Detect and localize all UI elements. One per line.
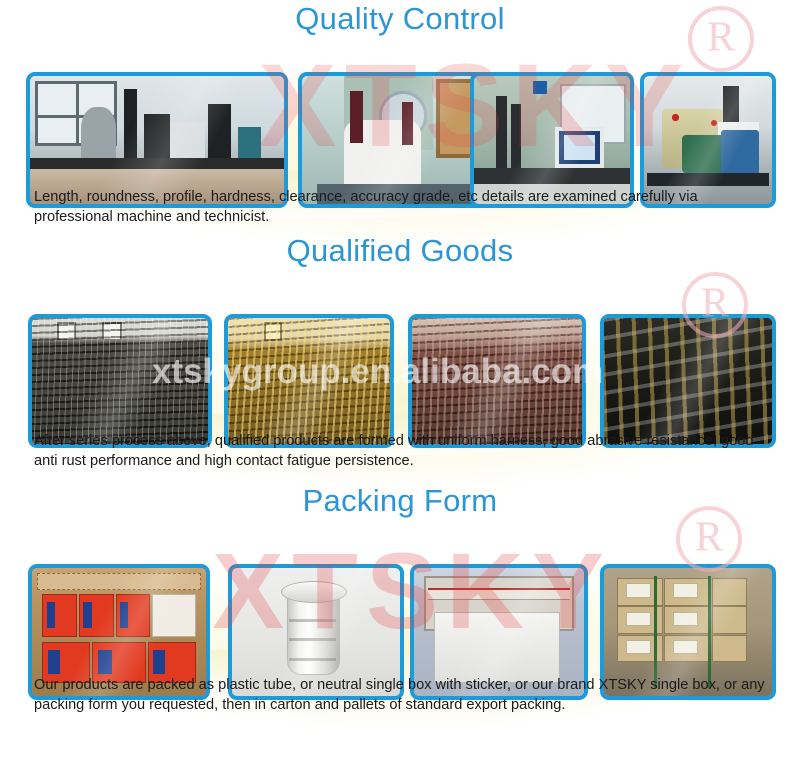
caption-qualified-goods: After series process above, qualified pr… [34,432,774,472]
photo-glare [604,318,772,444]
photo-glare [30,76,284,204]
section-title-packing-form: Packing Form [0,482,800,516]
photo-content [30,76,284,204]
photo-content [474,76,630,204]
section-title-quality-control: Quality Control [0,0,800,34]
caption-packing-form: Our products are packed as plastic tube,… [34,676,774,716]
photo-content [604,318,772,444]
photo-glare [228,318,390,444]
photo-content [302,76,494,204]
scene-hardness-tester [302,76,494,204]
photo-glare [474,76,630,204]
photo-stacked-steel-rollers-workshop[interactable] [28,314,212,448]
scene-brass-cages [604,318,772,444]
scene-lab-bench [30,76,284,204]
section-title-qualified-goods: Qualified Goods [0,232,800,266]
section-packing-form: Packing Form [0,482,800,516]
scene-gold-rollers [228,318,390,444]
scene-steel-rollers [32,318,208,444]
photo-gold-coated-roller-stacks[interactable] [224,314,394,448]
scene-inspection-station [474,76,630,204]
photo-content [228,318,390,444]
section-quality-control: Quality Control [0,0,800,43]
photo-copper-plated-roller-rows[interactable] [408,314,586,448]
section-qualified-goods: Qualified Goods [0,232,800,266]
photo-content [412,318,582,444]
photo-glare [644,76,772,204]
photo-content [32,318,208,444]
product-detail-page: R R R XTSKY Quality Control [0,0,800,760]
photo-brass-and-steel-bearing-cages[interactable] [600,314,776,448]
photo-glare [32,318,208,444]
photo-content [644,76,772,204]
scene-copper-rollers [412,318,582,444]
photo-glare [412,318,582,444]
caption-quality-control: Length, roundness, profile, hardness, cl… [34,188,774,228]
scene-grinding-machine [644,76,772,204]
photo-glare [302,76,494,204]
